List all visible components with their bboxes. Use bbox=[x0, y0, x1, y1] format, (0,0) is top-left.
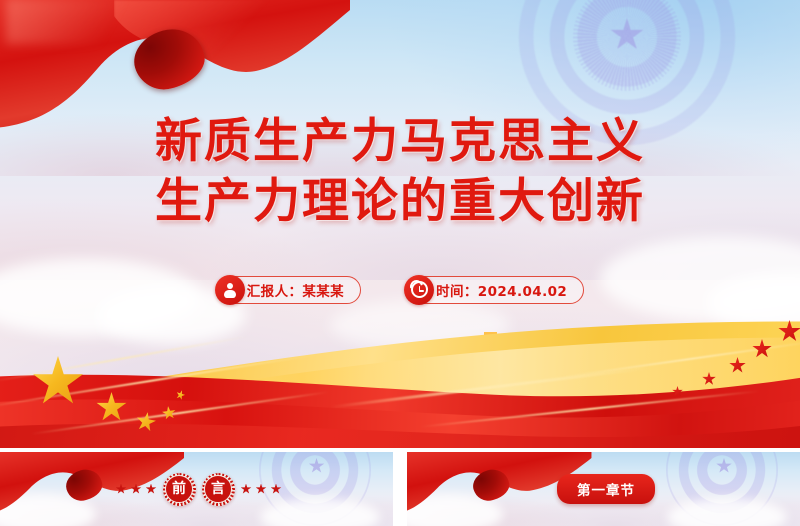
seal-stamp-1: 前 bbox=[163, 473, 196, 506]
clock-icon bbox=[404, 275, 434, 305]
presentation-canvas: 新质生产力马克思主义 生产力理论的重大创新 汇报人：某某某 时间：2024.04… bbox=[0, 0, 800, 526]
stars-right-icon bbox=[241, 484, 282, 495]
date-badge[interactable]: 时间：2024.04.02 bbox=[405, 276, 584, 304]
emblem-rays bbox=[573, 0, 681, 91]
thumbnail-chapter-one[interactable]: 第一章节 bbox=[407, 452, 800, 526]
seal-stamp-2: 言 bbox=[202, 473, 235, 506]
title-slide[interactable]: 新质生产力马克思主义 生产力理论的重大创新 汇报人：某某某 时间：2024.04… bbox=[0, 0, 800, 448]
title-line-2: 生产力理论的重大创新 bbox=[0, 172, 800, 232]
thumbnail-divider bbox=[398, 452, 403, 526]
stars-left-icon bbox=[116, 484, 157, 495]
foreword-title-group: 前 言 bbox=[0, 452, 393, 526]
presenter-badge[interactable]: 汇报人：某某某 bbox=[216, 276, 361, 304]
seal-char-1: 前 bbox=[172, 482, 186, 496]
chapter-title-group: 第一章节 bbox=[407, 452, 800, 526]
seal-char-2: 言 bbox=[211, 482, 225, 496]
thumbnail-strip: 前 言 第一章节 bbox=[0, 452, 800, 526]
thumbnail-foreword[interactable]: 前 言 bbox=[0, 452, 393, 526]
person-icon bbox=[215, 275, 245, 305]
chapter-label[interactable]: 第一章节 bbox=[557, 474, 655, 504]
ribbon-gloss bbox=[6, 0, 156, 44]
title-line-1: 新质生产力马克思主义 bbox=[0, 112, 800, 172]
page-title: 新质生产力马克思主义 生产力理论的重大创新 bbox=[0, 112, 800, 232]
date-label: 时间：2024.04.02 bbox=[436, 280, 567, 300]
meta-badges: 汇报人：某某某 时间：2024.04.02 bbox=[0, 276, 800, 304]
presenter-label: 汇报人：某某某 bbox=[247, 280, 344, 300]
